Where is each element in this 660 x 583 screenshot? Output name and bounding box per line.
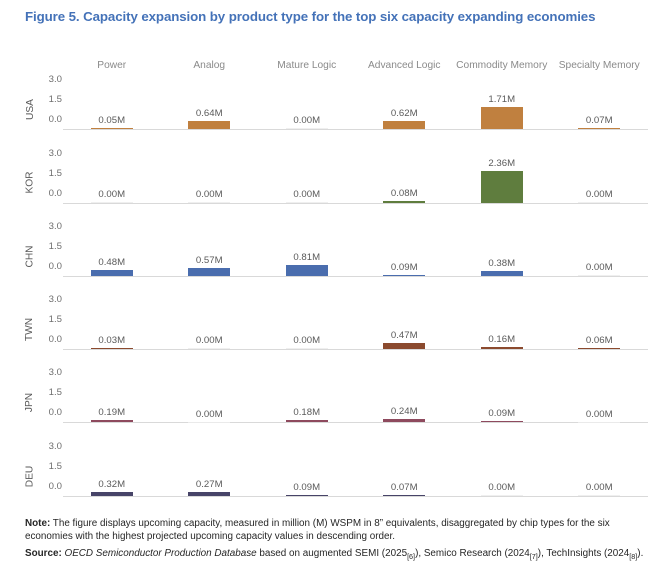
bar-cell: 0.00M — [453, 439, 551, 512]
bar-value-label: 0.09M — [391, 262, 418, 273]
bar[interactable] — [383, 275, 425, 276]
bar-value-label: 0.32M — [98, 479, 125, 490]
bar-value-label: 0.09M — [293, 482, 320, 493]
bar[interactable] — [91, 202, 133, 203]
bar[interactable] — [91, 348, 133, 349]
panel-kor: KOR0.01.53.00.00M0.00M0.00M0.08M2.36M0.0… — [0, 146, 660, 219]
bar[interactable] — [481, 421, 523, 422]
row-label-deu: DEU — [22, 439, 38, 512]
plot-area: 0.48M0.57M0.81M0.09M0.38M0.00M — [63, 220, 648, 293]
figure-title: Figure 5. Capacity expansion by product … — [25, 9, 640, 25]
panel-twn: TWN0.01.53.00.03M0.00M0.00M0.47M0.16M0.0… — [0, 293, 660, 366]
bar[interactable] — [188, 268, 230, 276]
column-header: Advanced Logic — [356, 59, 454, 73]
y-tick-label: 0.0 — [49, 189, 62, 199]
bar-value-label: 0.18M — [293, 407, 320, 418]
bar-cell: 0.38M — [453, 220, 551, 293]
bar-value-label: 0.00M — [586, 482, 613, 493]
bar[interactable] — [91, 492, 133, 496]
bar-value-label: 0.06M — [586, 335, 613, 346]
bar-cell: 0.00M — [258, 146, 356, 219]
bar-value-label: 0.00M — [196, 409, 223, 420]
bar-cell: 0.27M — [161, 439, 259, 512]
bar-cell: 0.03M — [63, 293, 161, 366]
row-label-text: TWN — [25, 318, 36, 341]
y-tick-label: 3.0 — [49, 295, 62, 305]
plot-area: 0.19M0.00M0.18M0.24M0.09M0.00M — [63, 366, 648, 439]
bar-value-label: 0.48M — [98, 257, 125, 268]
y-tick-label: 1.5 — [49, 242, 62, 252]
y-axis-ticks: 0.01.53.0 — [38, 439, 62, 512]
panel-jpn: JPN0.01.53.00.19M0.00M0.18M0.24M0.09M0.0… — [0, 366, 660, 439]
row-label-usa: USA — [22, 73, 38, 146]
bar[interactable] — [286, 420, 328, 422]
bar[interactable] — [188, 422, 230, 423]
column-header: Specialty Memory — [551, 59, 649, 73]
row-label-chn: CHN — [22, 220, 38, 293]
bar-cell: 0.47M — [356, 293, 454, 366]
bar[interactable] — [286, 348, 328, 349]
bar[interactable] — [578, 128, 620, 129]
bar[interactable] — [481, 171, 523, 202]
bar[interactable] — [91, 128, 133, 129]
bar-cell: 2.36M — [453, 146, 551, 219]
y-tick-label: 1.5 — [49, 315, 62, 325]
bar-cell: 0.19M — [63, 366, 161, 439]
bar[interactable] — [578, 422, 620, 423]
panels-container: USA0.01.53.00.05M0.64M0.00M0.62M1.71M0.0… — [0, 73, 660, 513]
y-tick-label: 1.5 — [49, 169, 62, 179]
bar-value-label: 0.38M — [488, 258, 515, 269]
y-tick-label: 3.0 — [49, 442, 62, 452]
bar[interactable] — [481, 495, 523, 496]
bar-cell: 0.07M — [356, 439, 454, 512]
row-label-text: CHN — [25, 245, 36, 267]
bar-cells: 0.00M0.00M0.00M0.08M2.36M0.00M — [63, 146, 648, 219]
y-tick-label: 1.5 — [49, 95, 62, 105]
column-header: Analog — [161, 59, 259, 73]
y-axis-ticks: 0.01.53.0 — [38, 293, 62, 366]
bar[interactable] — [481, 347, 523, 349]
bar-cell: 0.16M — [453, 293, 551, 366]
bar-value-label: 0.00M — [196, 335, 223, 346]
row-label-text: JPN — [25, 393, 36, 412]
bar-value-label: 0.00M — [293, 335, 320, 346]
bar-value-label: 0.07M — [391, 482, 418, 493]
bar[interactable] — [578, 348, 620, 349]
bar-cell: 0.62M — [356, 73, 454, 146]
y-axis-ticks: 0.01.53.0 — [38, 146, 62, 219]
bar-value-label: 0.64M — [196, 108, 223, 119]
panel-usa: USA0.01.53.00.05M0.64M0.00M0.62M1.71M0.0… — [0, 73, 660, 146]
bar-cell: 0.09M — [258, 439, 356, 512]
bar-cell: 0.00M — [161, 146, 259, 219]
y-tick-label: 3.0 — [49, 75, 62, 85]
note-text: The figure displays upcoming capacity, m… — [25, 518, 610, 542]
bar-value-label: 0.07M — [586, 115, 613, 126]
bar[interactable] — [383, 201, 425, 202]
bar[interactable] — [286, 495, 328, 496]
bar-value-label: 0.05M — [98, 115, 125, 126]
bar[interactable] — [188, 202, 230, 203]
bar-value-label: 0.27M — [196, 479, 223, 490]
y-tick-label: 0.0 — [49, 408, 62, 418]
bar-cell: 0.00M — [161, 366, 259, 439]
bar-value-label: 0.47M — [391, 330, 418, 341]
row-label-kor: KOR — [22, 146, 38, 219]
source-ref-6: [6] — [407, 552, 415, 561]
column-header-row: PowerAnalogMature LogicAdvanced LogicCom… — [63, 59, 648, 73]
bar-cell: 0.05M — [63, 73, 161, 146]
y-tick-label: 0.0 — [49, 262, 62, 272]
bar-cell: 0.08M — [356, 146, 454, 219]
panel-chn: CHN0.01.53.00.48M0.57M0.81M0.09M0.38M0.0… — [0, 220, 660, 293]
bar-value-label: 0.00M — [586, 189, 613, 200]
bar-value-label: 0.24M — [391, 406, 418, 417]
bar-value-label: 0.00M — [488, 482, 515, 493]
column-header: Power — [63, 59, 161, 73]
bar-cell: 0.48M — [63, 220, 161, 293]
bar[interactable] — [188, 348, 230, 349]
y-axis-ticks: 0.01.53.0 — [38, 220, 62, 293]
y-tick-label: 3.0 — [49, 149, 62, 159]
bar-value-label: 0.03M — [98, 335, 125, 346]
bar[interactable] — [578, 275, 620, 276]
bar-value-label: 0.81M — [293, 252, 320, 263]
plot-area: 0.32M0.27M0.09M0.07M0.00M0.00M — [63, 439, 648, 512]
row-label-text: USA — [25, 99, 36, 120]
source-database: OECD Semiconductor Production Database — [62, 548, 257, 559]
bar[interactable] — [481, 271, 523, 276]
source-rest-1: based on augmented SEMI (2025 — [257, 548, 407, 559]
row-label-text: DEU — [25, 465, 36, 487]
note-label: Note: — [25, 518, 50, 529]
source-label: Source: — [25, 548, 62, 559]
bar[interactable] — [383, 495, 425, 496]
bar-value-label: 0.19M — [98, 407, 125, 418]
row-label-text: KOR — [25, 172, 36, 194]
y-tick-label: 0.0 — [49, 482, 62, 492]
bar[interactable] — [383, 343, 425, 349]
bar-value-label: 0.00M — [586, 262, 613, 273]
bar[interactable] — [91, 420, 133, 423]
bar-value-label: 0.00M — [293, 115, 320, 126]
plot-area: 0.03M0.00M0.00M0.47M0.16M0.06M — [63, 293, 648, 366]
panel-deu: DEU0.01.53.00.32M0.27M0.09M0.07M0.00M0.0… — [0, 439, 660, 512]
source-rest-4: ). — [637, 548, 643, 559]
source-rest-3: ), TechInsights (2024 — [538, 548, 630, 559]
bar-value-label: 0.00M — [196, 189, 223, 200]
plot-area: 0.00M0.00M0.00M0.08M2.36M0.00M — [63, 146, 648, 219]
bar-value-label: 0.57M — [196, 255, 223, 266]
bar-cell: 0.00M — [551, 146, 649, 219]
bar-value-label: 0.00M — [98, 189, 125, 200]
bar[interactable] — [578, 495, 620, 496]
y-axis-ticks: 0.01.53.0 — [38, 366, 62, 439]
bar-value-label: 0.08M — [391, 188, 418, 199]
y-tick-label: 0.0 — [49, 115, 62, 125]
bar[interactable] — [286, 265, 328, 276]
bar-cell: 0.00M — [161, 293, 259, 366]
bar-cell: 1.71M — [453, 73, 551, 146]
y-axis-ticks: 0.01.53.0 — [38, 73, 62, 146]
bar-value-label: 0.00M — [293, 189, 320, 200]
bar-cell: 0.07M — [551, 73, 649, 146]
bar-cells: 0.32M0.27M0.09M0.07M0.00M0.00M — [63, 439, 648, 512]
bar-value-label: 1.71M — [488, 94, 515, 105]
plot-area: 0.05M0.64M0.00M0.62M1.71M0.07M — [63, 73, 648, 146]
bar-value-label: 0.00M — [586, 409, 613, 420]
bar[interactable] — [481, 107, 523, 130]
source-rest-2: ), Semico Research (2024 — [415, 548, 530, 559]
bar[interactable] — [188, 492, 230, 496]
bar[interactable] — [91, 270, 133, 276]
row-label-jpn: JPN — [22, 366, 38, 439]
bar-cell: 0.64M — [161, 73, 259, 146]
y-tick-label: 3.0 — [49, 368, 62, 378]
bar-cell: 0.57M — [161, 220, 259, 293]
bar[interactable] — [383, 419, 425, 422]
bar-cell: 0.81M — [258, 220, 356, 293]
bar-cells: 0.48M0.57M0.81M0.09M0.38M0.00M — [63, 220, 648, 293]
bar-value-label: 0.62M — [391, 108, 418, 119]
bar-cell: 0.06M — [551, 293, 649, 366]
bar-cell: 0.00M — [63, 146, 161, 219]
bar-cell: 0.00M — [551, 220, 649, 293]
source-ref-7: [7] — [530, 552, 538, 561]
figure-container: Figure 5. Capacity expansion by product … — [0, 0, 660, 583]
bar-cell: 0.00M — [258, 293, 356, 366]
y-tick-label: 1.5 — [49, 462, 62, 472]
row-label-twn: TWN — [22, 293, 38, 366]
bar-value-label: 2.36M — [488, 158, 515, 169]
y-tick-label: 0.0 — [49, 335, 62, 345]
column-header: Mature Logic — [258, 59, 356, 73]
bar-cell: 0.24M — [356, 366, 454, 439]
bar[interactable] — [286, 202, 328, 203]
column-header: Commodity Memory — [453, 59, 551, 73]
bar-cell: 0.00M — [258, 73, 356, 146]
bar-cell: 0.09M — [356, 220, 454, 293]
bar[interactable] — [188, 121, 230, 130]
bar-cells: 0.19M0.00M0.18M0.24M0.09M0.00M — [63, 366, 648, 439]
bar[interactable] — [578, 202, 620, 203]
bar-cell: 0.00M — [551, 439, 649, 512]
bar-cell: 0.32M — [63, 439, 161, 512]
bar-value-label: 0.16M — [488, 334, 515, 345]
bar-value-label: 0.09M — [488, 408, 515, 419]
note-line: Note: The figure displays upcoming capac… — [25, 517, 650, 543]
bar[interactable] — [286, 128, 328, 129]
bar-cell: 0.18M — [258, 366, 356, 439]
bar-cells: 0.03M0.00M0.00M0.47M0.16M0.06M — [63, 293, 648, 366]
y-tick-label: 3.0 — [49, 222, 62, 232]
y-tick-label: 1.5 — [49, 388, 62, 398]
bar-cells: 0.05M0.64M0.00M0.62M1.71M0.07M — [63, 73, 648, 146]
figure-notes: Note: The figure displays upcoming capac… — [25, 517, 650, 564]
bar-cell: 0.00M — [551, 366, 649, 439]
source-line: Source: OECD Semiconductor Production Da… — [25, 547, 650, 563]
bar[interactable] — [383, 121, 425, 129]
bar-cell: 0.09M — [453, 366, 551, 439]
